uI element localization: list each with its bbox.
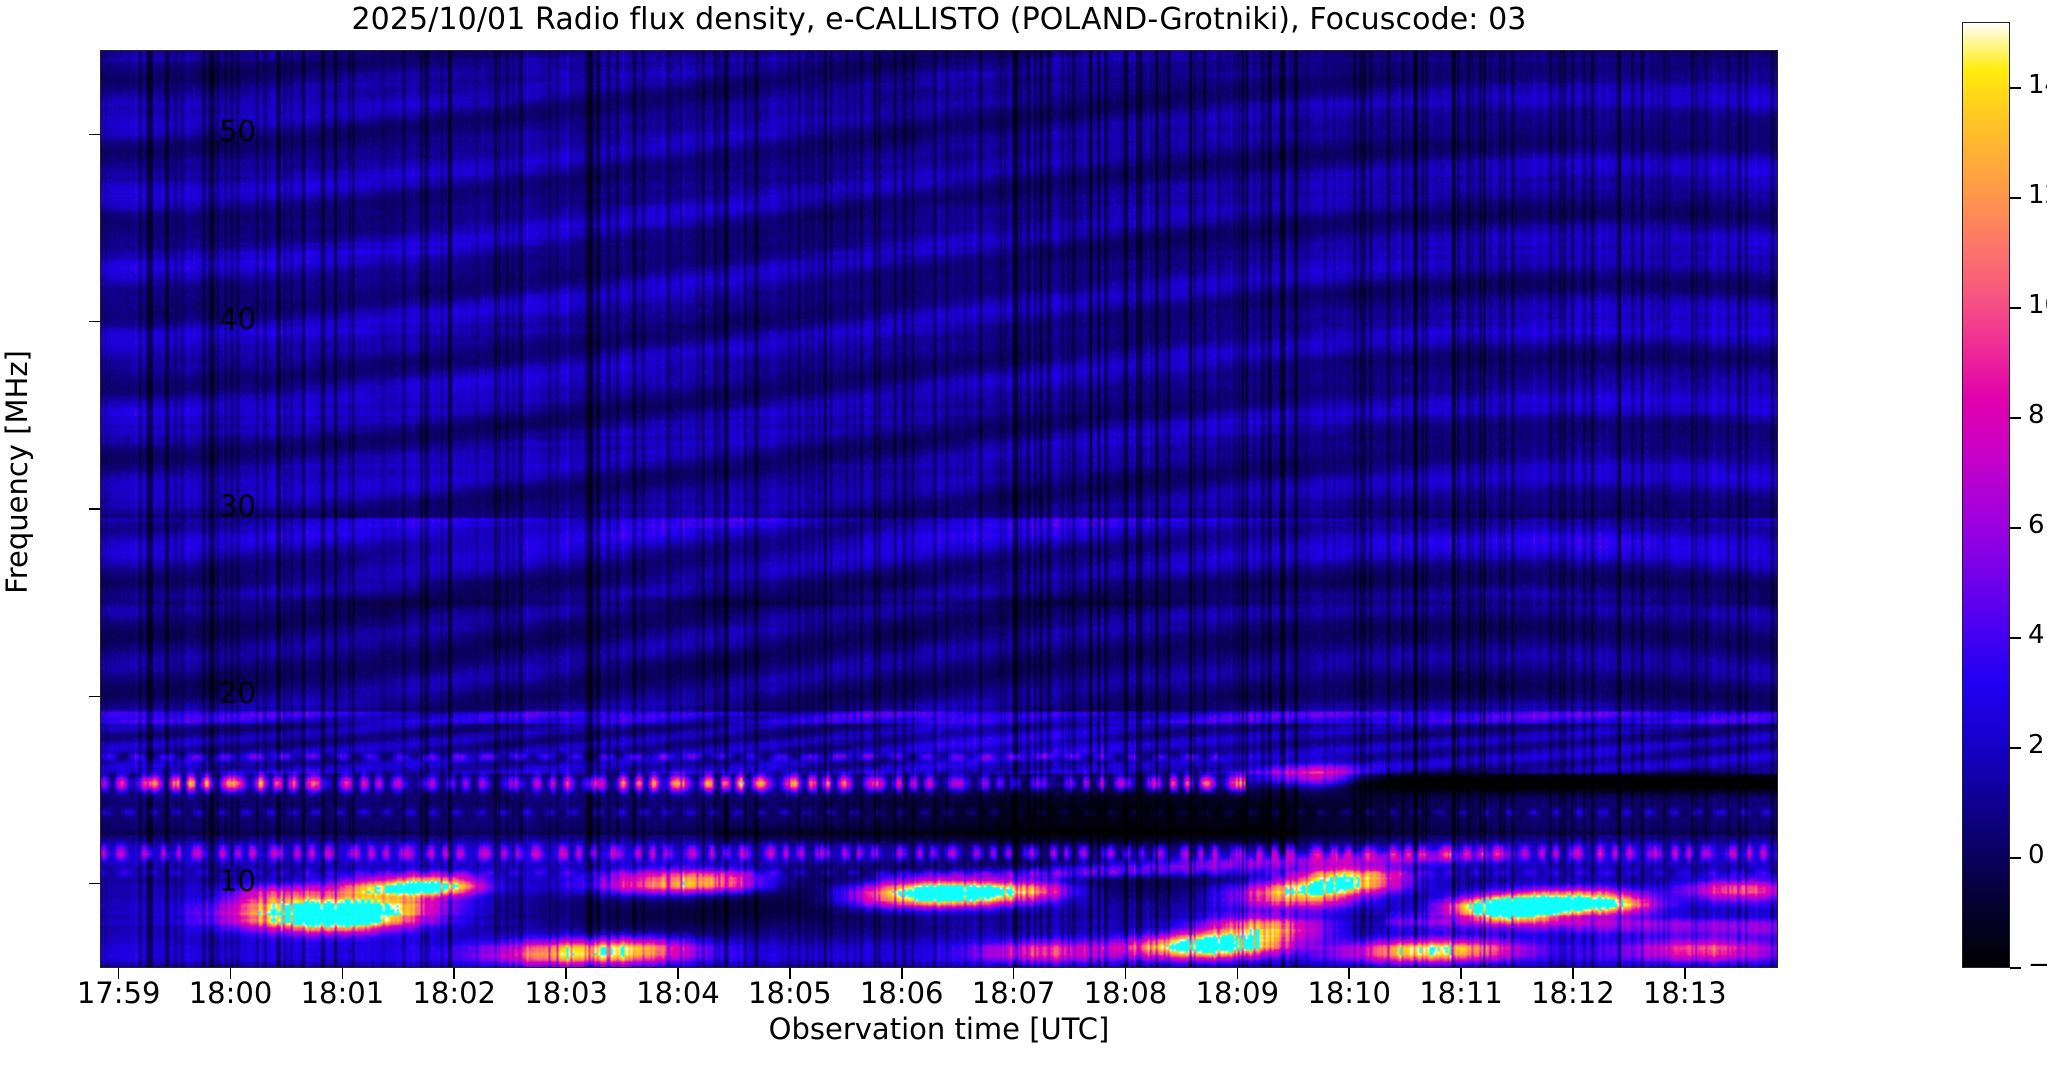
colorbar-tick-mark — [2010, 527, 2021, 529]
colorbar-tick-mark — [2010, 747, 2021, 749]
x-tick-label: 18:13 — [1585, 976, 1785, 1010]
y-axis-label: Frequency [MHz] — [0, 13, 34, 931]
colorbar-tick-mark — [2010, 417, 2021, 419]
y-tick-mark — [89, 134, 100, 136]
y-tick-label: 30 — [136, 489, 256, 523]
colorbar-tick-label: 6 — [2028, 510, 2047, 540]
colorbar-tick-label: 14 — [2028, 70, 2047, 100]
colorbar: −202468101214 dB above background — [1962, 22, 2010, 968]
y-tick-label: 50 — [136, 114, 256, 148]
colorbar-tick-mark — [2010, 967, 2021, 969]
spectrogram-plot-area — [100, 50, 1778, 968]
colorbar-tick-mark — [2010, 197, 2021, 199]
page-title: 2025/10/01 Radio flux density, e-CALLIST… — [100, 2, 1778, 37]
colorbar-gradient — [1962, 22, 2010, 968]
colorbar-tick-mark — [2010, 307, 2021, 309]
colorbar-tick-label: 4 — [2028, 620, 2047, 650]
colorbar-tick-label: −2 — [2028, 950, 2047, 980]
y-tick-mark — [89, 321, 100, 323]
spectrogram-image — [101, 51, 1777, 967]
y-tick-mark — [89, 508, 100, 510]
y-tick-label: 20 — [136, 676, 256, 710]
colorbar-tick-label: 0 — [2028, 840, 2047, 870]
colorbar-tick-mark — [2010, 87, 2021, 89]
y-tick-mark — [89, 696, 100, 698]
colorbar-tick-label: 2 — [2028, 730, 2047, 760]
colorbar-tick-label: 10 — [2028, 290, 2047, 320]
colorbar-tick-mark — [2010, 637, 2021, 639]
colorbar-tick-label: 8 — [2028, 400, 2047, 430]
y-tick-label: 10 — [136, 864, 256, 898]
x-axis-label: Observation time [UTC] — [100, 1012, 1778, 1046]
colorbar-tick-label: 12 — [2028, 180, 2047, 210]
colorbar-tick-mark — [2010, 857, 2021, 859]
y-tick-label: 40 — [136, 302, 256, 336]
y-tick-mark — [89, 883, 100, 885]
